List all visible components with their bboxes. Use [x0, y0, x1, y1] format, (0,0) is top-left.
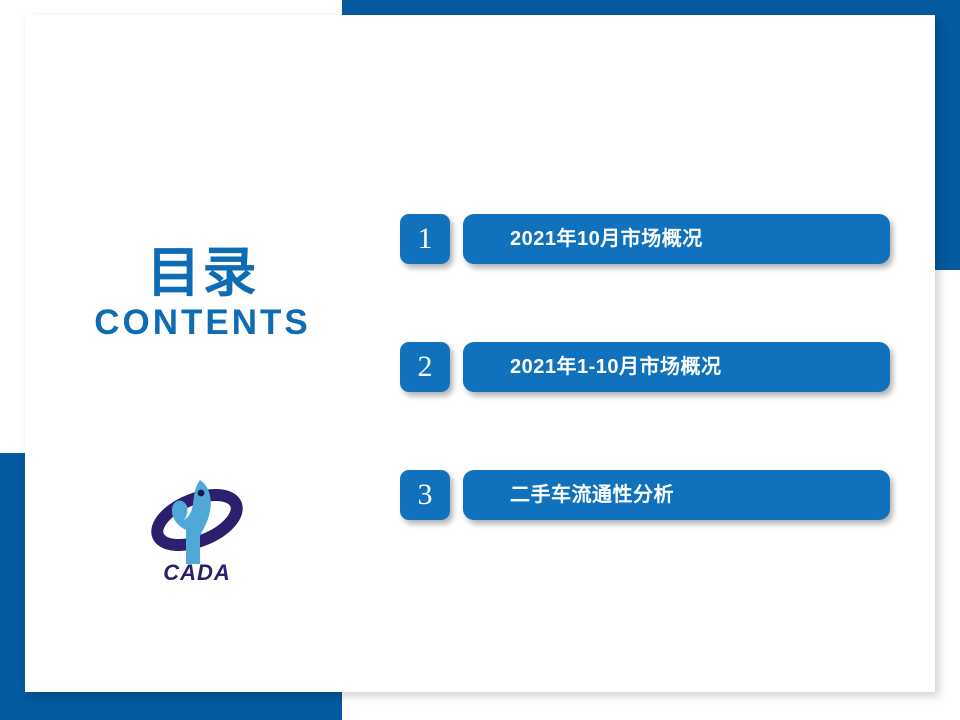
contents-item-label-1: 2021年10月市场概况: [510, 214, 703, 264]
page-title: 目录 CONTENTS: [60, 245, 345, 342]
cada-logo-text: CADA: [163, 560, 231, 585]
contents-item-number-3[interactable]: 3: [400, 470, 450, 520]
decor-band-right: [935, 0, 960, 270]
contents-item-bar-1[interactable]: 2021年10月市场概况: [463, 214, 890, 264]
contents-item-label-2: 2021年1-10月市场概况: [510, 342, 722, 392]
presentation-slide: 目录 CONTENTS CADA 1 2021年10月市场概况 2: [0, 0, 960, 720]
contents-list: 1 2021年10月市场概况 2 2021年1-10月市场概况 3 二手车流通性…: [400, 214, 890, 520]
contents-item-2[interactable]: 2 2021年1-10月市场概况: [400, 342, 890, 392]
contents-item-number-2[interactable]: 2: [400, 342, 450, 392]
contents-item-bar-2[interactable]: 2021年1-10月市场概况: [463, 342, 890, 392]
decor-band-bottom: [0, 692, 342, 720]
contents-item-bar-3[interactable]: 二手车流通性分析: [463, 470, 890, 520]
cada-logo: CADA: [138, 468, 256, 586]
page-title-cn: 目录: [60, 245, 345, 302]
page-title-en: CONTENTS: [60, 304, 345, 343]
decor-band-top: [342, 0, 960, 15]
contents-item-number-1[interactable]: 1: [400, 214, 450, 264]
contents-item-1[interactable]: 1 2021年10月市场概况: [400, 214, 890, 264]
contents-item-label-3: 二手车流通性分析: [510, 470, 674, 520]
contents-item-3[interactable]: 3 二手车流通性分析: [400, 470, 890, 520]
decor-band-left: [0, 453, 25, 720]
